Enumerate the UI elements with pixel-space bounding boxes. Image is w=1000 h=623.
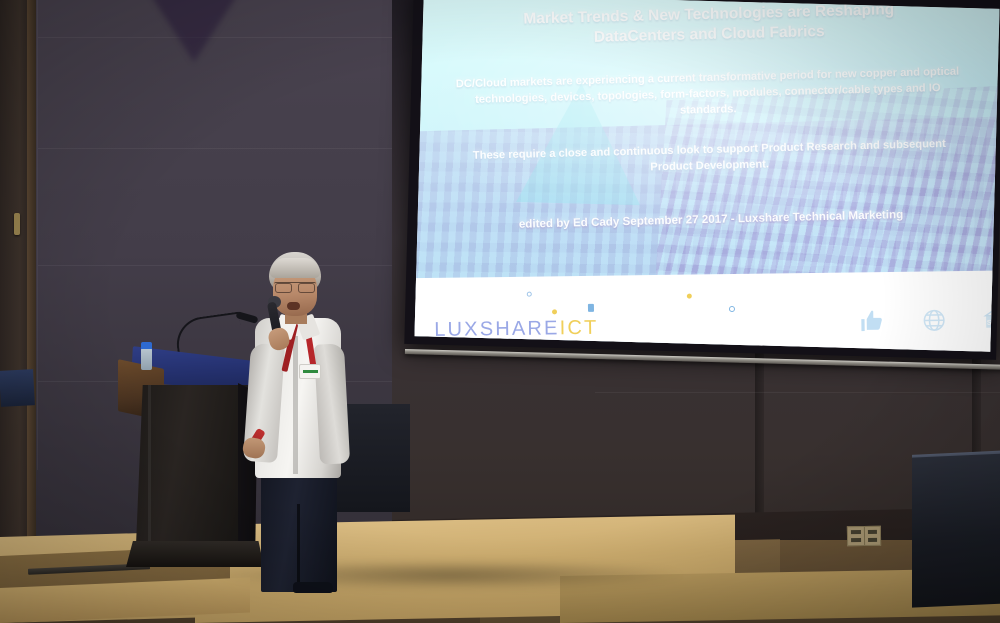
screen-frame: Market Trends & New Technologies are Res… — [404, 0, 1000, 360]
decorative-dot — [552, 309, 557, 314]
logo-text-ict: ICT — [559, 317, 598, 340]
presenter — [237, 252, 357, 592]
loudspeaker-cabinet — [912, 452, 1000, 607]
slide-paragraph-1: DC/Cloud markets are experiencing a curr… — [451, 64, 965, 125]
outlet-socket — [864, 527, 880, 545]
water-bottle-cap — [141, 342, 152, 349]
door-jamb — [27, 0, 36, 540]
wall-seam — [38, 148, 398, 149]
presenter-shirt-placket — [293, 336, 298, 474]
projection-screen: Market Trends & New Technologies are Res… — [404, 0, 1000, 360]
presenter-shoe — [293, 582, 333, 593]
screen-surface: Market Trends & New Technologies are Res… — [414, 0, 999, 352]
lectern-edge-highlight — [148, 385, 151, 543]
wall-seam-vertical — [37, 0, 38, 470]
slide-paragraph-2: These require a close and continuous loo… — [453, 136, 966, 181]
presenter-arm-right — [314, 343, 350, 464]
logo-text-luxshare: LUXSHARE — [434, 317, 560, 341]
water-bottle — [141, 348, 152, 370]
presenter-leg-seam — [297, 504, 300, 592]
wall-outlet[interactable] — [847, 526, 881, 546]
slide: Market Trends & New Technologies are Res… — [414, 0, 999, 352]
slide-footer-band: LUXSHAREICT SALE — [414, 270, 999, 352]
decorative-dot — [588, 304, 594, 312]
presentation-room-photo: Market Trends & New Technologies are Res… — [0, 0, 1000, 623]
door-handle[interactable] — [14, 213, 20, 235]
lectern-body — [136, 385, 248, 545]
presenter-glasses — [274, 282, 316, 291]
slide-title: Market Trends & New Technologies are Res… — [444, 0, 975, 51]
door[interactable] — [0, 0, 36, 540]
light-cone-shadow — [150, 0, 238, 62]
presenter-mouth — [287, 302, 300, 310]
decorative-dot — [729, 306, 735, 312]
decorative-dot — [527, 292, 532, 297]
presenter-badge — [299, 364, 321, 379]
chair — [0, 369, 35, 407]
luxshare-logo: LUXSHAREICT — [434, 317, 599, 342]
decorative-dot — [687, 294, 692, 299]
thumbs-up-icon — [859, 308, 885, 334]
outlet-socket — [848, 527, 865, 545]
globe-icon — [921, 307, 947, 333]
wall-seam — [595, 392, 1000, 393]
slide-footer-icons: SALE — [859, 306, 999, 334]
presenter-hair-front — [270, 258, 320, 278]
slide-credit-line: edited by Ed Cady September 27 2017 - Lu… — [455, 206, 968, 232]
